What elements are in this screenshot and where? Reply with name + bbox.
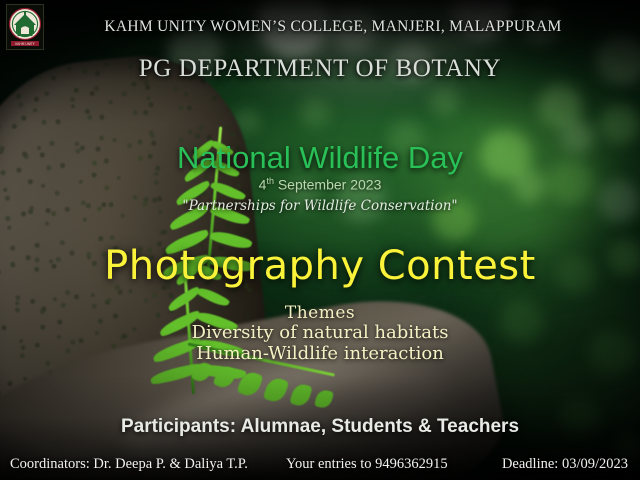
poster-canvas: KAHM UNITY KAHM UNITY WOMEN’S COLLEGE, M… [0, 0, 640, 480]
event-date-suffix: th [266, 176, 274, 186]
footer-entries-contact: Your entries to 9496362915 [286, 456, 448, 473]
event-title: National Wildlife Day [0, 140, 640, 176]
themes-label: Themes [0, 303, 640, 323]
svg-text:KAHM UNITY: KAHM UNITY [15, 42, 34, 46]
event-slogan: "Partnerships for Wildlife Conservation" [0, 198, 640, 214]
college-name-heading: KAHM UNITY WOMEN’S COLLEGE, MANJERI, MAL… [0, 18, 640, 36]
event-date-rest: September 2023 [274, 177, 381, 193]
participants-line: Participants: Alumnae, Students & Teache… [0, 416, 640, 438]
theme-item-2: Human-Wildlife interaction [0, 343, 640, 364]
footer-bar: Coordinators: Dr. Deepa P. & Daliya T.P.… [0, 448, 640, 480]
footer-coordinators: Coordinators: Dr. Deepa P. & Daliya T.P. [10, 456, 248, 473]
footer-deadline: Deadline: 03/09/2023 [502, 456, 628, 473]
department-heading: PG DEPARTMENT OF BOTANY [0, 55, 640, 83]
event-date: 4th September 2023 [0, 176, 640, 193]
theme-item-1: Diversity of natural habitats [0, 322, 640, 343]
contest-heading: Photography Contest [0, 243, 640, 289]
